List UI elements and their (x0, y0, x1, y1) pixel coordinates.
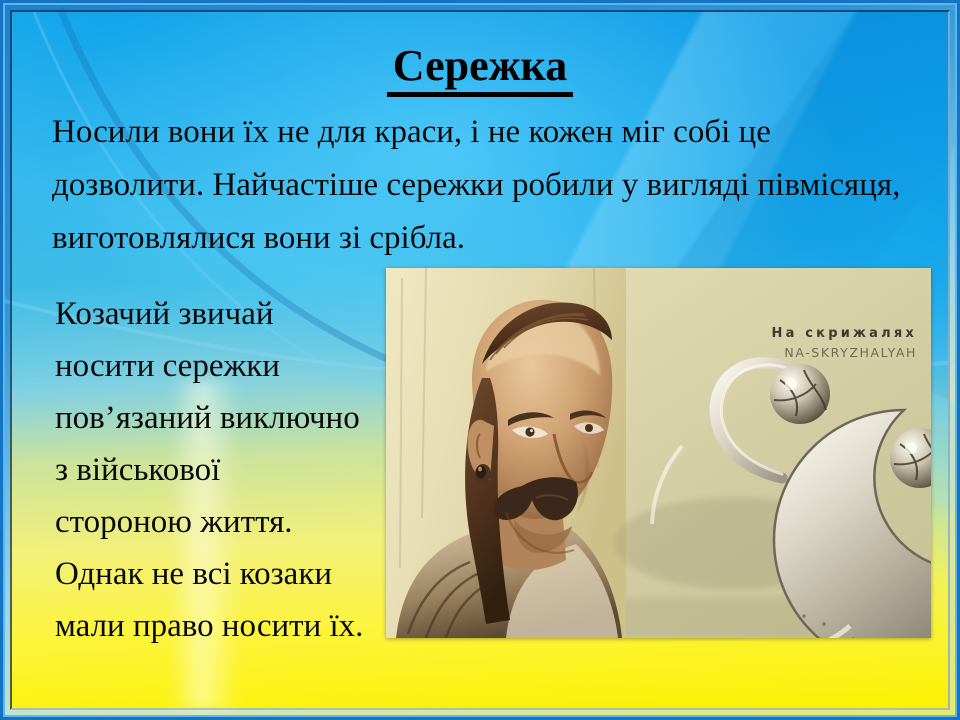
ear-earring (475, 464, 491, 484)
slide-title-text: Сережка (387, 44, 573, 97)
cossack-portrait (386, 268, 626, 638)
cossack-earring-illustration (386, 268, 931, 638)
slide-title: Сережка (0, 44, 960, 97)
slide-image-cossack-earring: На скрижалях NA-SKRYZHALYAH (386, 268, 931, 638)
paragraph-custom: Козачий звичай носити сережки пов’язаний… (55, 288, 365, 652)
earring-bead-left (770, 364, 830, 424)
paragraph-intro: Носили вони їх не для краси, і не кожен … (52, 106, 922, 265)
presentation-slide: Сережка Носили вони їх не для краси, і н… (0, 0, 960, 720)
